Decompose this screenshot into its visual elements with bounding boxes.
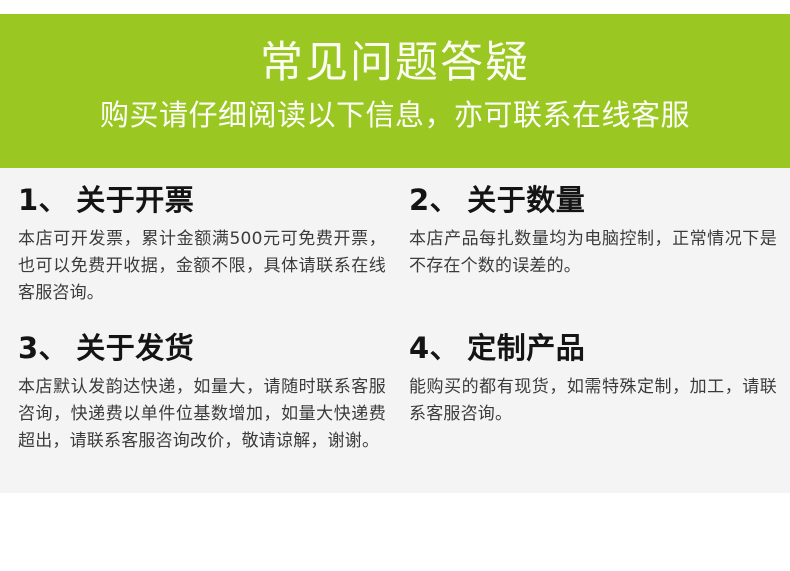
faq-heading-3: 3、关于发货 [18,330,393,366]
faq-heading-4: 4、定制产品 [409,330,784,366]
faq-grid: 1、关于开票 本店可开发票，累计金额满500元可免费开票，也可以免费开收据，金额… [0,168,790,493]
faq-item-3: 3、关于发货 本店默认发韵达快递，如量大，请随时联系客服咨询，快递费以单件位基数… [18,330,393,455]
faq-heading-text-2: 关于数量 [467,183,585,217]
faq-banner: 常见问题答疑 购买请仔细阅读以下信息，亦可联系在线客服 [0,14,790,168]
faq-item-2: 2、关于数量 本店产品每扎数量均为电脑控制，正常情况下是不存在个数的误差的。 [409,182,784,280]
faq-body-1: 本店可开发票，累计金额满500元可免费开票，也可以免费开收据，金额不限，具体请联… [18,226,386,307]
faq-number-4: 4、 [409,331,459,365]
faq-number-1: 1、 [18,183,68,217]
banner-title: 常见问题答疑 [260,38,530,88]
faq-item-4: 4、定制产品 能购买的都有现货，如需特殊定制，加工，请联系客服咨询。 [409,330,784,428]
faq-heading-2: 2、关于数量 [409,182,784,218]
faq-page: 常见问题答疑 购买请仔细阅读以下信息，亦可联系在线客服 1、关于开票 本店可开发… [0,0,790,571]
top-white-strip [0,0,790,14]
faq-heading-text-3: 关于发货 [76,331,194,365]
faq-number-2: 2、 [409,183,459,217]
faq-body-3: 本店默认发韵达快递，如量大，请随时联系客服咨询，快递费以单件位基数增加，如量大快… [18,374,386,455]
faq-body-4: 能购买的都有现货，如需特殊定制，加工，请联系客服咨询。 [409,374,777,428]
faq-body-2: 本店产品每扎数量均为电脑控制，正常情况下是不存在个数的误差的。 [409,226,777,280]
faq-panel: 1、关于开票 本店可开发票，累计金额满500元可免费开票，也可以免费开收据，金额… [0,168,790,493]
banner-subtitle: 购买请仔细阅读以下信息，亦可联系在线客服 [100,96,690,134]
bottom-white-strip [0,493,790,571]
faq-number-3: 3、 [18,331,68,365]
faq-heading-1: 1、关于开票 [18,182,393,218]
faq-heading-text-4: 定制产品 [467,331,585,365]
faq-heading-text-1: 关于开票 [76,183,194,217]
faq-item-1: 1、关于开票 本店可开发票，累计金额满500元可免费开票，也可以免费开收据，金额… [18,182,393,307]
